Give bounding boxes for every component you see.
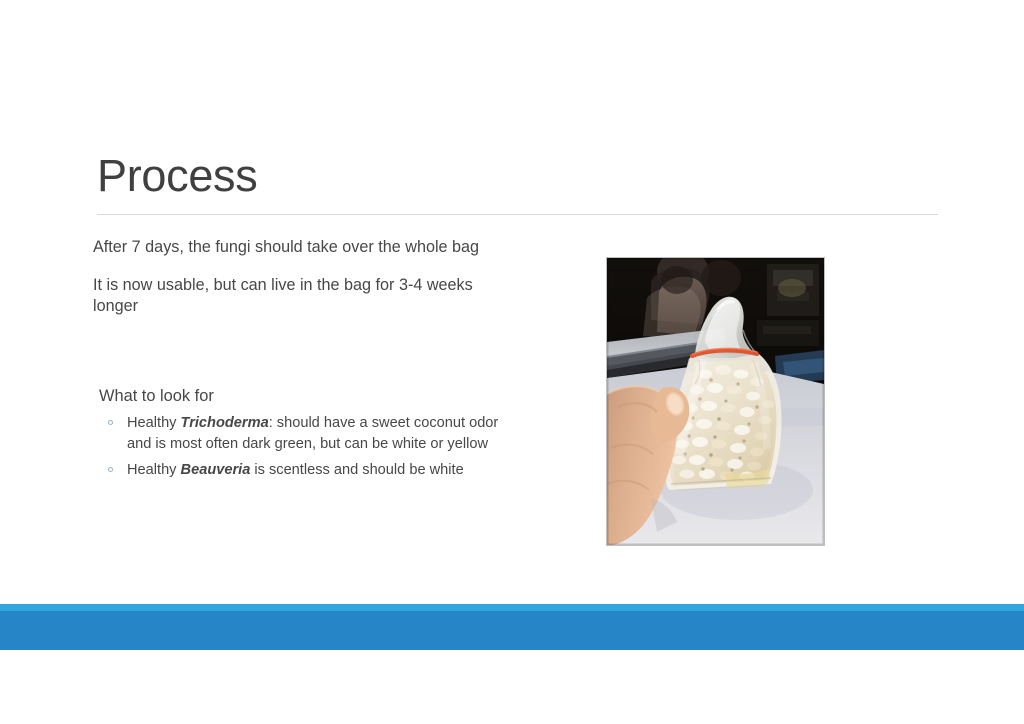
slide-canvas: Process After 7 days, the fungi should t… [0, 0, 1024, 724]
footer-stripe-main [0, 611, 1024, 650]
process-photo [607, 258, 824, 545]
bullet-emphasis-text: Trichoderma [181, 415, 269, 431]
footer-stripe-light [0, 604, 1024, 611]
what-to-look-for-heading: What to look for [99, 386, 499, 407]
photo-image [607, 258, 824, 545]
body-paragraph-1: After 7 days, the fungi should take over… [93, 237, 493, 258]
hollow-circle-bullet-icon [108, 420, 113, 425]
title-divider [97, 214, 938, 215]
bullet-lead-text: Healthy [127, 415, 181, 431]
body-paragraph-2: It is now usable, but can live in the ba… [93, 275, 493, 317]
body-text-column: After 7 days, the fungi should take over… [93, 237, 493, 318]
bullet-emphasis-text: Beauveria [181, 462, 251, 478]
page-title: Process [97, 152, 938, 199]
footer-accent-bar [0, 604, 1024, 650]
hollow-circle-bullet-icon [108, 467, 113, 472]
list-item: Healthy Beauveria is scentless and shoul… [99, 460, 499, 480]
what-to-look-for-block: What to look for Healthy Trichoderma: sh… [99, 386, 499, 480]
bullet-rest-text: is scentless and should be white [250, 462, 463, 478]
bullet-lead-text: Healthy [127, 462, 181, 478]
list-item: Healthy Trichoderma: should have a sweet… [99, 413, 499, 454]
look-for-bullet-list: Healthy Trichoderma: should have a sweet… [99, 413, 499, 480]
title-block: Process [97, 152, 938, 199]
